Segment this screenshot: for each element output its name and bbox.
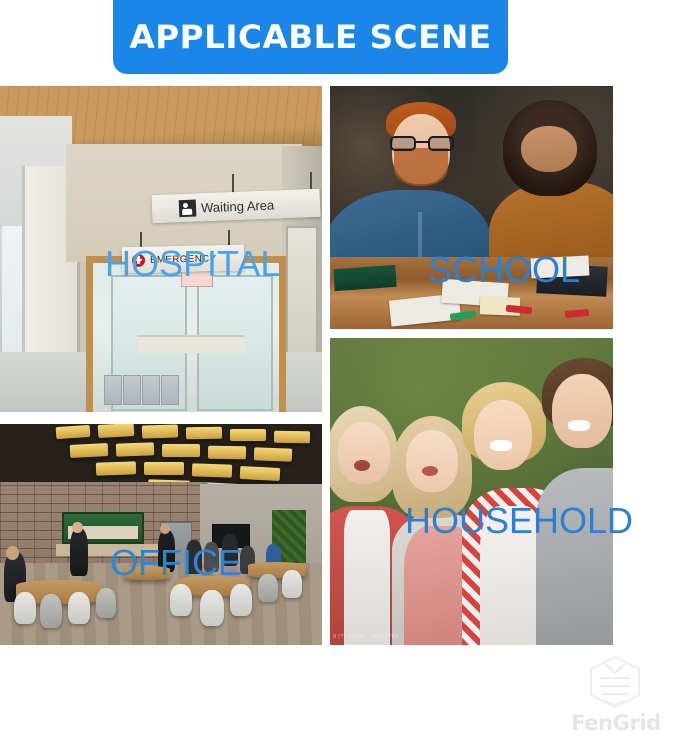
scene-label-school: SCHOOL xyxy=(428,252,580,288)
scene-label-hospital: HOSPITAL xyxy=(105,246,280,282)
scene-label-household: HOUSEHOLD xyxy=(405,503,633,539)
office-chair xyxy=(258,574,278,602)
office-photo xyxy=(0,424,322,645)
brand-name: FenGrid xyxy=(566,711,666,735)
scene-label-office: OFFICE xyxy=(110,545,242,581)
office-chair xyxy=(96,588,116,618)
hexagon-grid-logo-icon xyxy=(586,655,644,709)
scene-panel-school xyxy=(330,86,613,329)
hospital-waiting-chairs xyxy=(104,369,178,405)
stock-photo-watermark: 8 (?) 123RF - 24602753 xyxy=(333,634,398,640)
header-banner: APPLICABLE SCENE xyxy=(113,0,508,74)
office-chair xyxy=(200,590,224,626)
school-photo xyxy=(330,86,613,329)
notebook-green xyxy=(333,265,396,291)
waiting-person-pictogram-icon xyxy=(179,199,197,217)
scene-panel-office xyxy=(0,424,322,645)
office-chair xyxy=(14,592,36,624)
office-chair xyxy=(40,594,62,628)
office-chair xyxy=(230,584,252,616)
brand-logo: FenGrid xyxy=(566,655,666,737)
office-person xyxy=(70,528,88,576)
office-chair xyxy=(170,584,192,616)
scene-panel-household: 8 (?) 123RF - 24602753 xyxy=(330,338,613,645)
household-photo: 8 (?) 123RF - 24602753 xyxy=(330,338,613,645)
waiting-area-sign-label: Waiting Area xyxy=(201,197,275,215)
office-chair xyxy=(282,570,302,598)
eyeglasses-icon xyxy=(390,136,454,151)
office-chair xyxy=(68,592,90,624)
page-title: APPLICABLE SCENE xyxy=(129,21,491,53)
